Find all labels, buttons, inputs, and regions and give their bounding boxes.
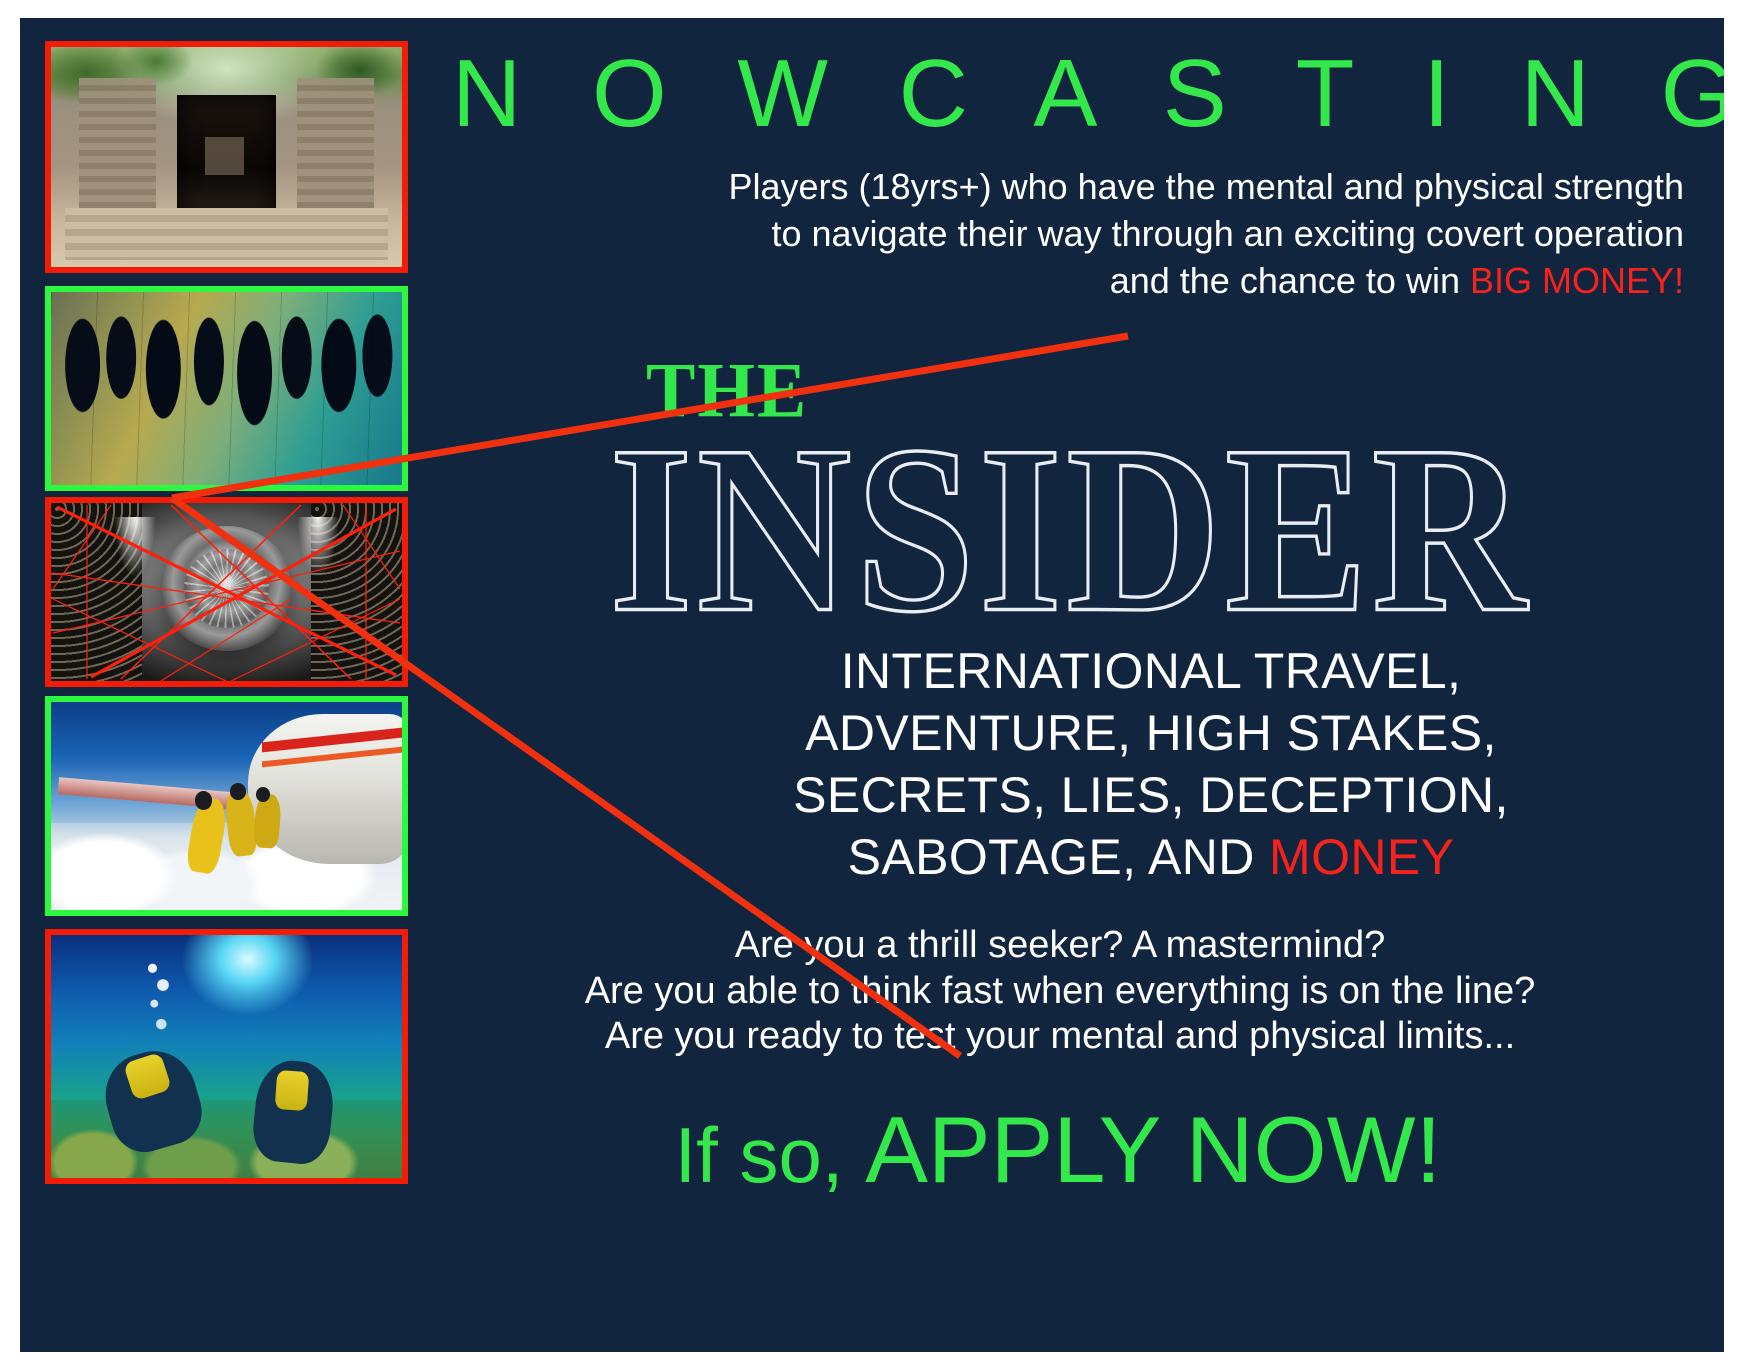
skydiving-image bbox=[51, 702, 402, 910]
big-money-highlight: BIG MONEY! bbox=[1470, 260, 1684, 301]
apply-cta-prefix: If so, bbox=[674, 1111, 865, 1199]
show-tagline: INTERNATIONAL TRAVEL, ADVENTURE, HIGH ST… bbox=[610, 640, 1692, 888]
question-line-3: Are you ready to test your mental and ph… bbox=[430, 1014, 1690, 1060]
photo-strip bbox=[45, 41, 408, 1331]
show-title-insider: INSIDER bbox=[427, 410, 1712, 649]
temple-ruins-image bbox=[51, 47, 402, 267]
bank-vault-image bbox=[51, 503, 402, 681]
question-line-2: Are you able to think fast when everythi… bbox=[430, 969, 1690, 1015]
tagline-line-3: SECRETS, LIES, DECEPTION, bbox=[610, 764, 1692, 826]
money-highlight: MONEY bbox=[1269, 829, 1454, 885]
bank-vault-photo bbox=[45, 497, 408, 687]
helmet-graphic bbox=[230, 783, 246, 800]
blurb-line-2: to navigate their way through an excitin… bbox=[550, 211, 1684, 258]
scuba-diving-photo bbox=[45, 929, 408, 1184]
blurb-line-3: and the chance to win BIG MONEY! bbox=[550, 258, 1684, 305]
air-tank-graphic bbox=[274, 1070, 308, 1111]
temple-ruins-photo bbox=[45, 41, 408, 273]
tagline-line-4: SABOTAGE, AND MONEY bbox=[610, 826, 1692, 888]
bubbles-graphic bbox=[142, 959, 177, 1051]
temple-right-wall-graphic bbox=[297, 78, 374, 223]
casting-questions: Are you a thrill seeker? A mastermind? A… bbox=[430, 923, 1690, 1060]
shadows-image bbox=[51, 292, 402, 485]
poster-board: N O W C A S T I N G Players (18yrs+) who… bbox=[20, 18, 1724, 1352]
blurb-line-1: Players (18yrs+) who have the mental and… bbox=[550, 164, 1684, 211]
skydiving-photo bbox=[45, 696, 408, 916]
tagline-line-1: INTERNATIONAL TRAVEL, bbox=[610, 640, 1692, 702]
blurb-line-3-text: and the chance to win bbox=[1110, 260, 1470, 301]
temple-steps-graphic bbox=[65, 208, 388, 261]
tagline-line-2: ADVENTURE, HIGH STAKES, bbox=[610, 702, 1692, 764]
scuba-diving-image bbox=[51, 935, 402, 1178]
now-casting-poster: N O W C A S T I N G Players (18yrs+) who… bbox=[0, 0, 1744, 1370]
temple-left-wall-graphic bbox=[79, 78, 156, 223]
casting-blurb: Players (18yrs+) who have the mental and… bbox=[550, 164, 1684, 304]
poster-content: N O W C A S T I N G Players (18yrs+) who… bbox=[430, 18, 1710, 1352]
question-line-1: Are you a thrill seeker? A mastermind? bbox=[430, 923, 1690, 969]
coral-reef-graphic bbox=[51, 1100, 402, 1178]
apply-now-cta[interactable]: If so, APPLY NOW! bbox=[430, 1103, 1686, 1197]
now-casting-heading: N O W C A S T I N G bbox=[430, 46, 1684, 142]
apply-cta-main: APPLY NOW! bbox=[865, 1097, 1441, 1202]
tagline-line-4-text: SABOTAGE, AND bbox=[848, 829, 1269, 885]
shadows-photo bbox=[45, 286, 408, 491]
laser-grid-overlay bbox=[51, 503, 402, 681]
